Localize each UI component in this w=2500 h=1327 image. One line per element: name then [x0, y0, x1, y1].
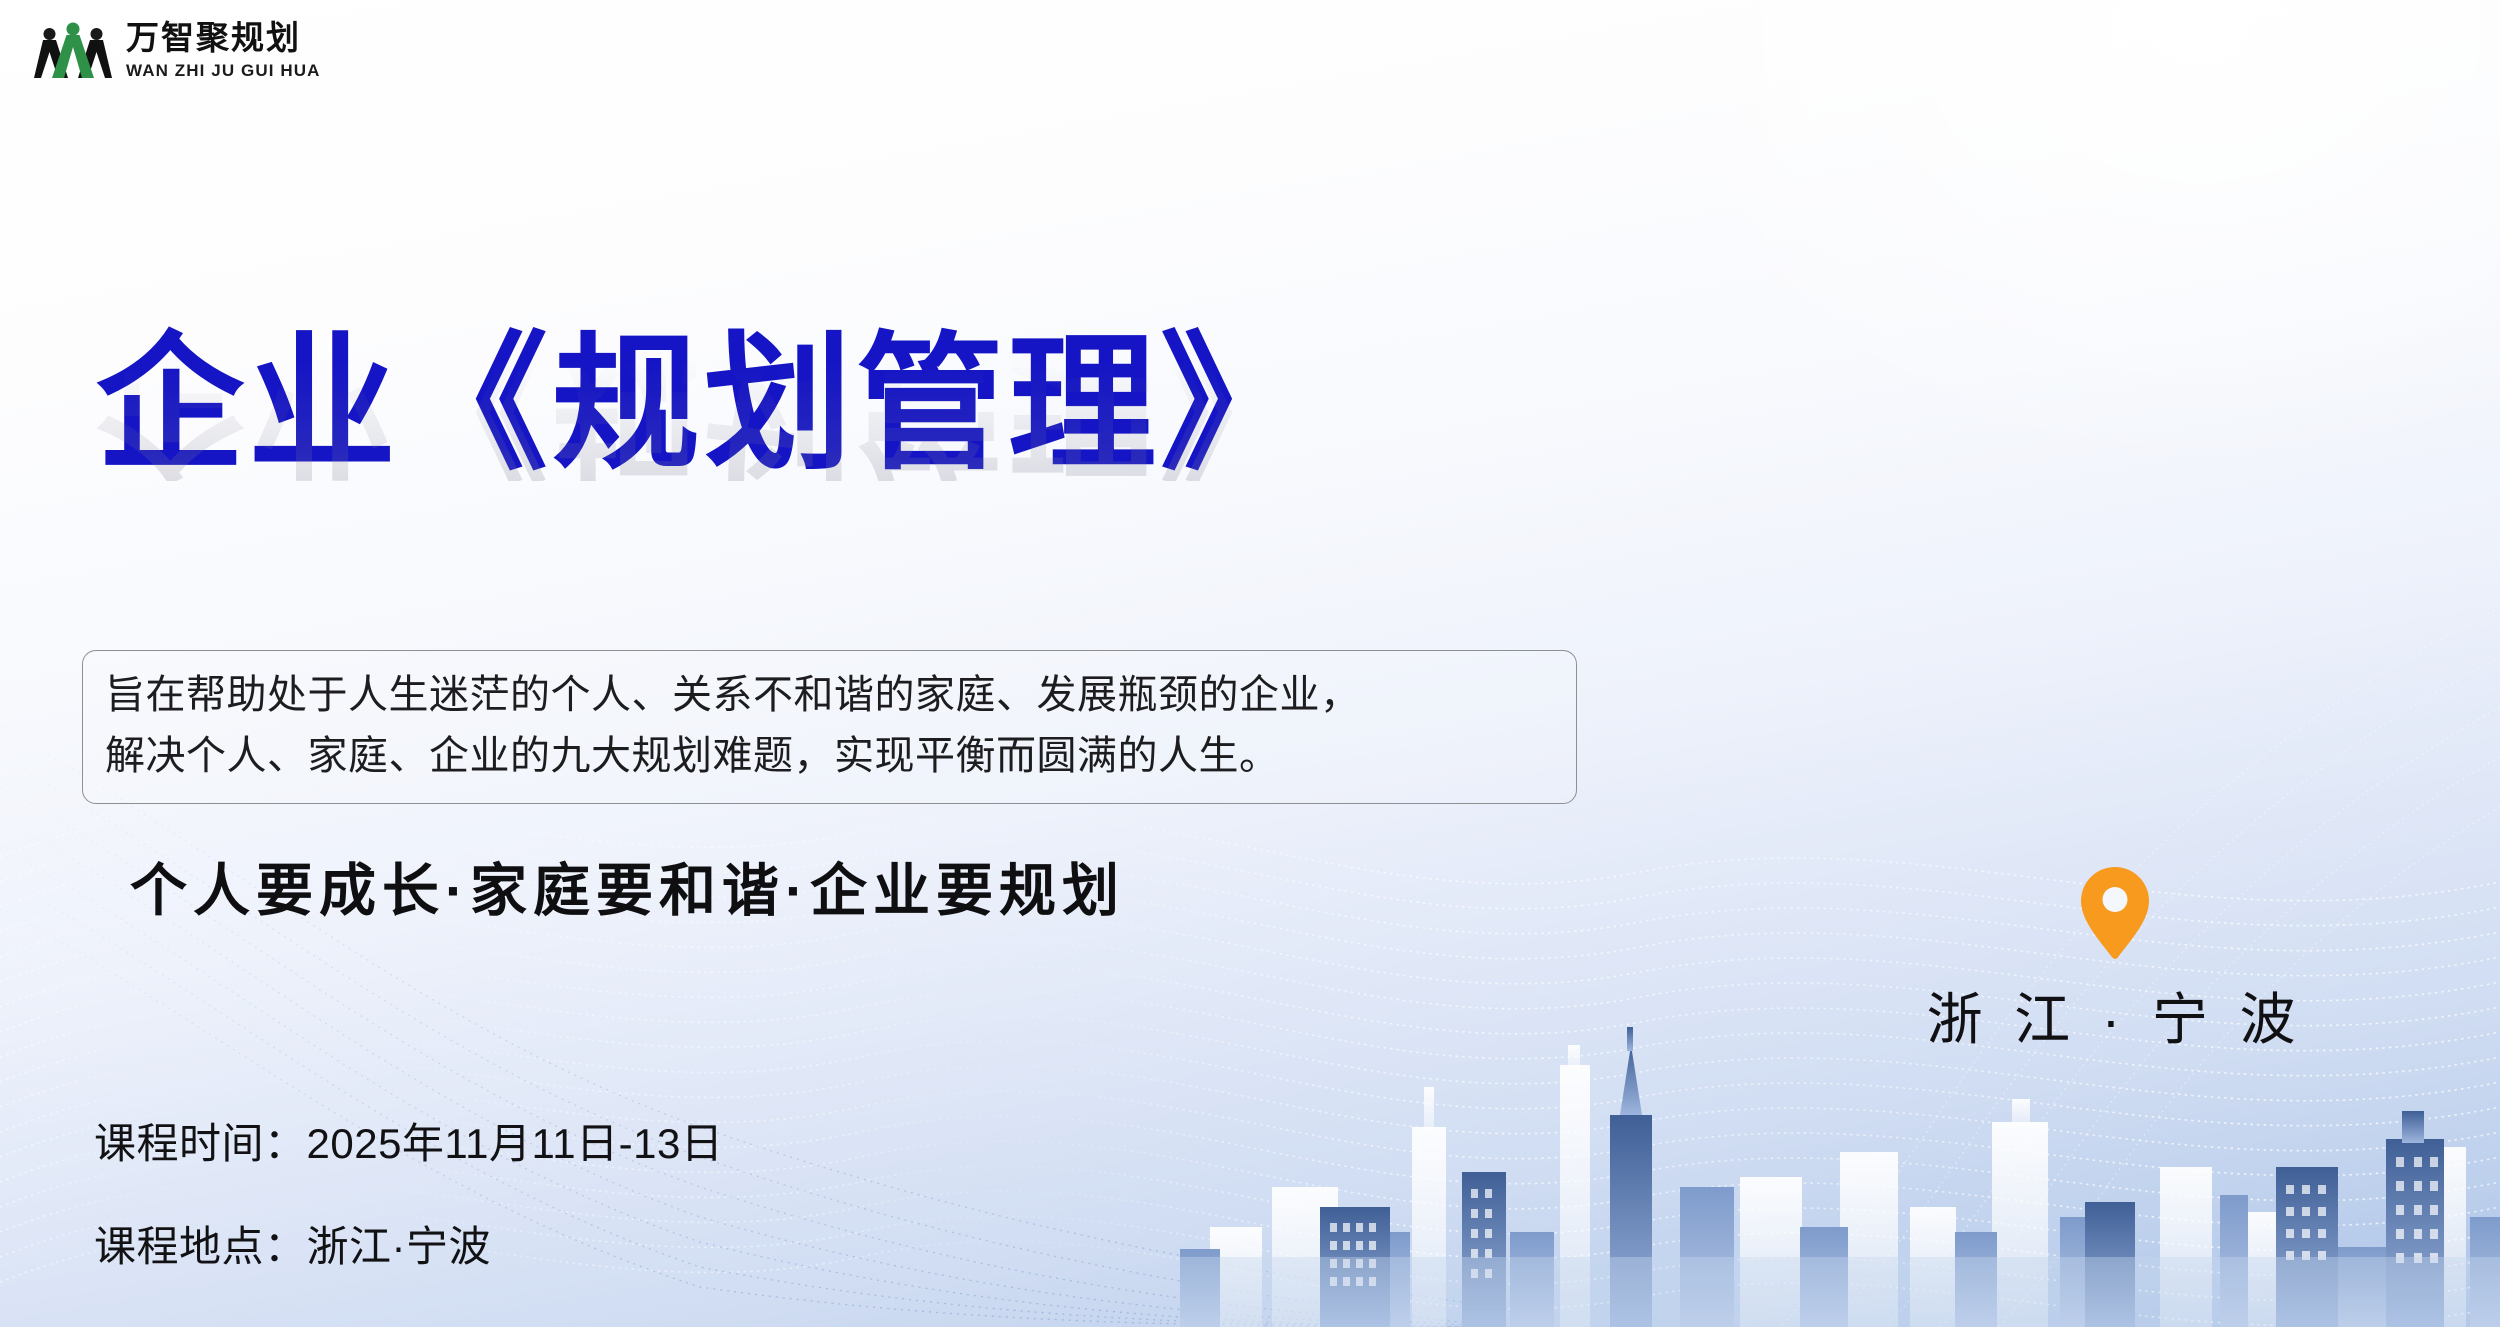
description-box: 旨在帮助处于人生迷茫的个人、关系不和谐的家庭、发展瓶颈的企业， 解决个人、家庭、… — [82, 650, 1577, 804]
course-info-block: 课程时间：2025年11月11日-13日 课程地点：浙江·宁波 — [94, 1110, 723, 1274]
slogan-text: 个人要成长·家庭要和谐·企业要规划 — [130, 845, 1125, 927]
brand-name-pinyin: WAN ZHI JU GUI HUA — [126, 62, 321, 79]
poster-canvas: 万智聚规划 WAN ZHI JU GUI HUA 企业《规划管理》 企业《规划管… — [0, 0, 2500, 1327]
location-badge: 浙 江 · 宁 波 — [1945, 865, 2285, 1056]
three-people-logo-icon — [34, 20, 112, 82]
page-title-reflection: 企业《规划管理》 — [96, 349, 1312, 481]
course-time: 课程时间：2025年11月11日-13日 — [94, 1110, 723, 1171]
brand-logo: 万智聚规划 WAN ZHI JU GUI HUA — [34, 20, 321, 82]
description-line-1: 旨在帮助处于人生迷茫的个人、关系不和谐的家庭、发展瓶颈的企业， — [105, 665, 1554, 726]
hero-title-block: 企业《规划管理》 企业《规划管理》 — [96, 330, 1312, 613]
description-line-2: 解决个人、家庭、企业的九大规划难题，实现平衡而圆满的人生。 — [105, 726, 1554, 787]
brand-name-cn: 万智聚规划 — [126, 23, 321, 56]
map-pin-icon — [2078, 865, 2152, 961]
location-text: 浙 江 · 宁 波 — [1927, 975, 2304, 1056]
course-place: 课程地点：浙江·宁波 — [94, 1213, 723, 1274]
brand-wordmark: 万智聚规划 WAN ZHI JU GUI HUA — [126, 23, 321, 79]
city-skyline-graphic — [1180, 1027, 2500, 1327]
top-right-glow — [1600, 0, 2500, 480]
